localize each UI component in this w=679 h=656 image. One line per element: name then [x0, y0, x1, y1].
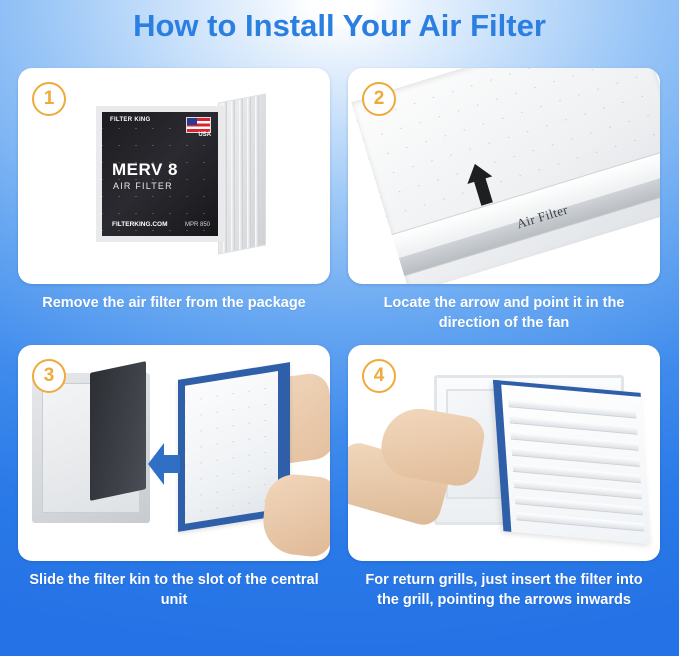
step-3-caption: Slide the filter kin to the slot of the …: [18, 570, 330, 610]
step-4: 4: [348, 345, 660, 610]
page-title: How to Install Your Air Filter: [0, 0, 679, 46]
boxed-pleated-air-filter-image: FILTER KING USA MERV 8 AIR FILTER FILTER…: [96, 98, 266, 253]
infographic-root: How to Install Your Air Filter 1: [0, 0, 679, 656]
brand-label: FILTER KING: [110, 117, 151, 124]
filter-side-pleats: [218, 93, 266, 254]
step-2: 2 Air Filter Locate: [348, 68, 660, 333]
step-2-card: 2 Air Filter: [348, 68, 660, 284]
step-3-badge: 3: [32, 359, 66, 393]
product-title: MERV 8: [112, 160, 178, 180]
step-4-badge: 4: [362, 359, 396, 393]
step-1: 1 FILTER KING: [18, 68, 330, 333]
step-1-caption: Remove the air filter from the package: [18, 293, 330, 313]
steps-grid: 1 FILTER KING: [18, 68, 661, 610]
product-subtitle: AIR FILTER: [113, 181, 173, 191]
filter-mesh-pattern: [185, 371, 278, 524]
insertion-direction-arrow-icon: [148, 443, 180, 485]
website-label: FILTERKING.COM: [112, 221, 168, 228]
step-2-badge: 2: [362, 82, 396, 116]
step-1-badge: 1: [32, 82, 66, 116]
usa-label: USA: [198, 132, 211, 138]
step-3-card: 3: [18, 345, 330, 561]
step-3: 3 S: [18, 345, 330, 610]
filter-panel: [351, 68, 660, 284]
step-2-caption: Locate the arrow and point it in the dir…: [348, 293, 660, 333]
usa-flag-icon: [186, 117, 211, 133]
filter-slot: [90, 361, 146, 501]
filter-front-face: FILTER KING USA MERV 8 AIR FILTER FILTER…: [96, 106, 224, 242]
rating-label: MPR 850: [185, 222, 210, 228]
grill-door-with-filter: [493, 380, 651, 544]
step-1-card: 1 FILTER KING: [18, 68, 330, 284]
step-4-caption: For return grills, just insert the filte…: [348, 570, 660, 610]
step-4-card: 4: [348, 345, 660, 561]
